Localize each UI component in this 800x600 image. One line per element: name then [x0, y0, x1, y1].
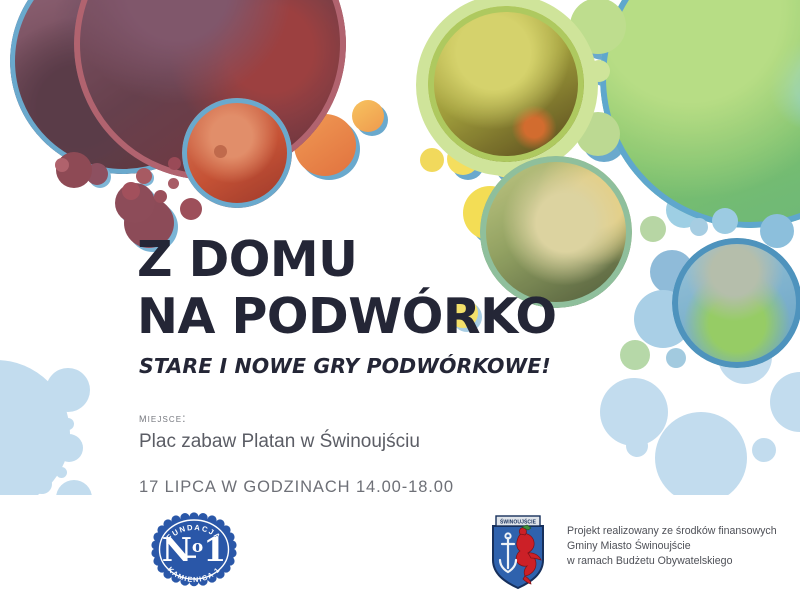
crest-banner-text: ŚWINOUJŚCIE: [500, 518, 537, 525]
funding-line-1: Projekt realizowany ze środków finansowy…: [567, 524, 797, 539]
photo-ring: [600, 0, 800, 228]
funding-line-3: w ramach Budżetu Obywatelskiego: [567, 554, 797, 569]
fundacja-no1-seal-logo: FUNDACJA KAMIENICA 1 No1: [140, 508, 248, 596]
dot: [420, 148, 444, 172]
bubble: [62, 418, 74, 430]
place-label: Miejsce:: [139, 410, 567, 425]
dot: [55, 158, 69, 172]
funding-note: Projekt realizowany ze środków finansowy…: [567, 524, 797, 569]
dot: [640, 216, 666, 242]
photo-boy-running: [600, 0, 800, 228]
bubble: [55, 434, 83, 462]
dot: [168, 178, 179, 189]
dot: [620, 340, 650, 370]
headline-line-1: Z DOMU: [137, 232, 567, 288]
dot: [352, 100, 384, 132]
dot: [760, 214, 794, 248]
bubble: [56, 467, 67, 478]
dot: [122, 182, 140, 200]
bubble: [46, 368, 90, 412]
dot: [168, 157, 181, 170]
funding-line-2: Gminy Miasto Świnoujście: [567, 539, 797, 554]
photo-girl-ball: [672, 238, 800, 368]
dot: [214, 145, 227, 158]
subtitle: STARE I NOWE GRY PODWÓRKOWE!: [139, 354, 567, 378]
place-value: Plac zabaw Platan w Świnoujściu: [139, 431, 567, 453]
dot: [136, 168, 152, 184]
dot: [666, 348, 686, 368]
bubble: [626, 435, 648, 457]
poster-text-block: Z DOMU NA PODWÓRKO STARE I NOWE GRY PODW…: [137, 232, 567, 497]
photo-ring: [428, 6, 584, 162]
dot: [180, 198, 202, 220]
photo-ring: [182, 98, 292, 208]
headline-line-2: NA PODWÓRKO: [137, 289, 567, 345]
bubble: [770, 372, 800, 432]
bubble: [752, 438, 776, 462]
swinoujscie-coat-of-arms: ŚWINOUJŚCIE: [487, 512, 549, 590]
dot: [712, 208, 738, 234]
photo-ring: [672, 238, 800, 368]
bubble: [655, 412, 747, 504]
dot: [154, 190, 167, 203]
photo-boy-toy-car: [428, 6, 584, 162]
dot: [690, 218, 708, 236]
bubble: [32, 474, 52, 494]
poster-canvas: Z DOMU NA PODWÓRKO STARE I NOWE GRY PODW…: [0, 0, 800, 600]
photo-girl-skipping: [182, 98, 292, 208]
